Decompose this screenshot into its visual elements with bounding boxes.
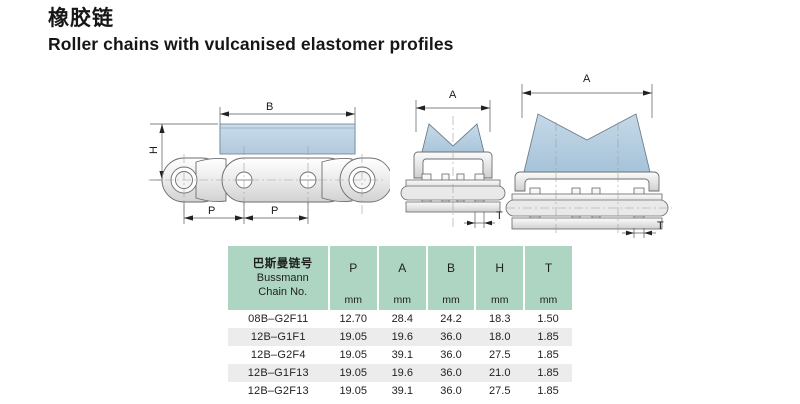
cell-p: 19.05 — [329, 328, 378, 346]
chain-cross-section — [506, 188, 668, 229]
column-header-t: T — [524, 246, 572, 290]
cell-t: 1.85 — [524, 364, 572, 382]
table-row: 12B–G1F1 19.05 19.6 36.0 18.0 1.85 — [228, 328, 572, 346]
table-row: 12B–G2F4 19.05 39.1 36.0 27.5 1.85 — [228, 346, 572, 364]
cell-b: 36.0 — [427, 328, 476, 346]
cell-h: 21.0 — [475, 364, 524, 382]
unit-a: mm — [378, 290, 427, 310]
dimension-label-t-wide: T — [657, 220, 664, 232]
table-header: 巴斯曼链号 Bussmann Chain No. P A B H T mm mm… — [228, 246, 572, 310]
cell-p: 19.05 — [329, 364, 378, 382]
cell-t: 1.50 — [524, 310, 572, 328]
specification-table-container: 巴斯曼链号 Bussmann Chain No. P A B H T mm mm… — [228, 246, 572, 400]
column-header-h: H — [475, 246, 524, 290]
cell-b: 36.0 — [427, 382, 476, 400]
specification-table: 巴斯曼链号 Bussmann Chain No. P A B H T mm mm… — [228, 246, 572, 400]
cell-a: 39.1 — [378, 346, 427, 364]
dimension-label-p-left: P — [208, 205, 215, 217]
cell-a: 39.1 — [378, 382, 427, 400]
cell-p: 19.05 — [329, 346, 378, 364]
column-header-p: P — [329, 246, 378, 290]
table-row: 12B–G2F13 19.05 39.1 36.0 27.5 1.85 — [228, 382, 572, 400]
cell-chain-no: 08B–G2F11 — [228, 310, 329, 328]
cell-b: 36.0 — [427, 346, 476, 364]
unit-h: mm — [475, 290, 524, 310]
cell-a: 28.4 — [378, 310, 427, 328]
cell-p: 19.05 — [329, 382, 378, 400]
dimension-label-h: H — [148, 146, 160, 154]
dimension-label-a-narrow: A — [449, 89, 456, 101]
dimension-label-p-right: P — [271, 205, 278, 217]
column-header-a: A — [378, 246, 427, 290]
technical-drawings: B H P P — [0, 62, 800, 240]
end-view-wide-drawing: A T — [500, 62, 680, 245]
cell-t: 1.85 — [524, 382, 572, 400]
side-view-drawing: B H P P — [140, 62, 390, 245]
unit-b: mm — [427, 290, 476, 310]
elastomer-v-profile-wide — [524, 114, 650, 172]
column-header-chain-no-en1: Bussmann — [238, 271, 328, 285]
unit-p: mm — [329, 290, 378, 310]
column-header-chain-no-en2: Chain No. — [238, 285, 328, 299]
page-title-en: Roller chains with vulcanised elastomer … — [48, 33, 748, 56]
title-block: 橡胶链 Roller chains with vulcanised elasto… — [48, 6, 748, 56]
table-header-row: 巴斯曼链号 Bussmann Chain No. P A B H T — [228, 246, 572, 290]
cell-h: 18.0 — [475, 328, 524, 346]
cell-chain-no: 12B–G2F4 — [228, 346, 329, 364]
dimension-p-group — [184, 202, 308, 224]
table-row: 08B–G2F11 12.70 28.4 24.2 18.3 1.50 — [228, 310, 572, 328]
table-body: 08B–G2F11 12.70 28.4 24.2 18.3 1.50 12B–… — [228, 310, 572, 400]
end-view-narrow-drawing: A T — [398, 62, 508, 245]
cell-h: 27.5 — [475, 382, 524, 400]
end-view-wide-svg — [500, 62, 680, 240]
column-header-chain-no-cn: 巴斯曼链号 — [238, 257, 328, 271]
side-view-svg — [140, 62, 390, 240]
cell-h: 27.5 — [475, 346, 524, 364]
column-header-chain-no: 巴斯曼链号 Bussmann Chain No. — [228, 246, 329, 310]
cell-chain-no: 12B–G1F13 — [228, 364, 329, 382]
table-row: 12B–G1F13 19.05 19.6 36.0 21.0 1.85 — [228, 364, 572, 382]
page-title-cn: 橡胶链 — [48, 6, 748, 32]
dimension-t — [622, 228, 656, 238]
cell-a: 19.6 — [378, 328, 427, 346]
cell-b: 36.0 — [427, 364, 476, 382]
unit-t: mm — [524, 290, 572, 310]
cell-chain-no: 12B–G1F1 — [228, 328, 329, 346]
cell-h: 18.3 — [475, 310, 524, 328]
column-header-b: B — [427, 246, 476, 290]
dimension-t — [464, 212, 495, 228]
dimension-a — [522, 84, 652, 118]
elastomer-profile-block — [220, 124, 355, 154]
dimension-label-a-wide: A — [583, 73, 590, 85]
cell-t: 1.85 — [524, 328, 572, 346]
cell-t: 1.85 — [524, 346, 572, 364]
cell-p: 12.70 — [329, 310, 378, 328]
cell-b: 24.2 — [427, 310, 476, 328]
dimension-label-b: B — [266, 101, 273, 113]
cell-a: 19.6 — [378, 364, 427, 382]
cell-chain-no: 12B–G2F13 — [228, 382, 329, 400]
